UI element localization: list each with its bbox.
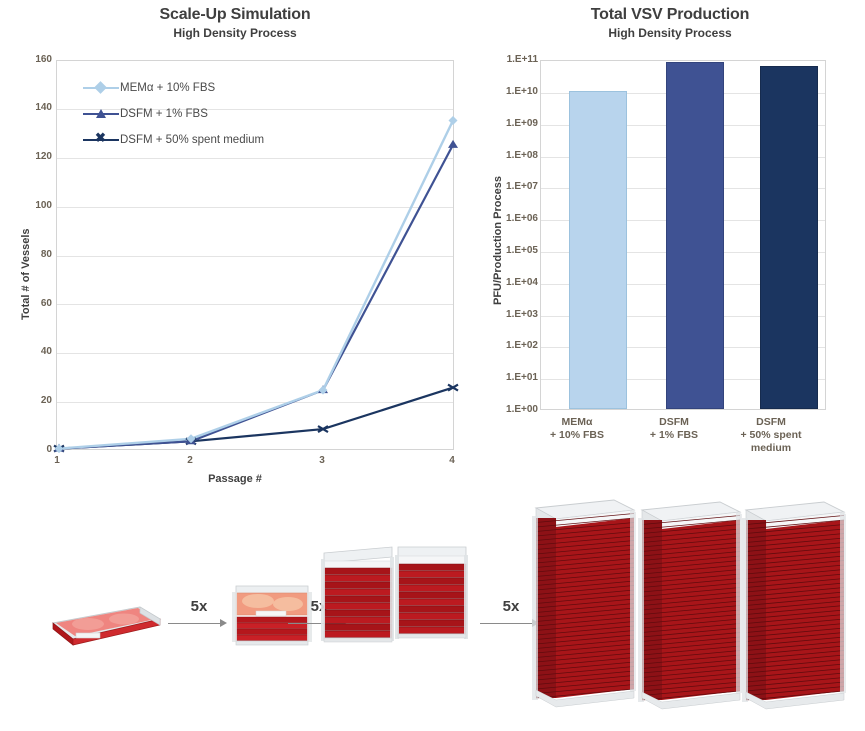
legend-item-dsfm-1fbs: DSFM + 1% FBS (83, 108, 208, 120)
left-y-tick-20: 20 (26, 395, 52, 406)
right-y-tick-1e06: 1.E+06 (500, 213, 538, 224)
scale-arrow-1: 5x (168, 598, 230, 632)
left-chart-subtitle: High Density Process (0, 27, 470, 41)
forty-layer-triple-stack-icon (530, 492, 850, 714)
series-line-dsfm-1fbs (59, 145, 453, 449)
left-chart-title: Scale-Up Simulation (0, 6, 470, 24)
left-y-tick-60: 60 (26, 298, 52, 309)
right-y-tick-1e00: 1.E+00 (500, 404, 538, 415)
vessel-stage-1-single-tray (48, 595, 163, 650)
left-x-tick-2: 2 (181, 455, 199, 466)
bar-category-label-mema: MEMα + 10% FBS (538, 416, 616, 442)
right-y-tick-1e02: 1.E+02 (500, 340, 538, 351)
vessel-stage-3-ten-layer-double (320, 535, 470, 650)
right-y-tick-1e11: 1.E+11 (500, 54, 538, 65)
bar-dsfm-1fbs (666, 62, 724, 409)
left-y-tick-120: 120 (26, 151, 52, 162)
arrow-head-icon (220, 619, 227, 627)
legend-label-dsfm-1fbs: DSFM + 1% FBS (120, 108, 208, 120)
right-chart-plot-area (540, 60, 826, 410)
right-chart-title: Total VSV Production (495, 6, 845, 24)
series-markers-mema-10fbs (55, 116, 458, 453)
bar-category-mema-line2: + 10% FBS (538, 429, 616, 442)
bar-mema-10fbs (569, 91, 627, 409)
scale-up-simulation-chart: Scale-Up Simulation High Density Process… (0, 0, 470, 480)
legend-label-mema: MEMα + 10% FBS (120, 82, 215, 94)
bar-dsfm-spent (760, 66, 818, 409)
ten-layer-double-stack-icon (320, 535, 470, 650)
right-y-tick-1e10: 1.E+10 (500, 86, 538, 97)
legend-marker-triangle-icon (83, 108, 119, 120)
left-x-tick-1: 1 (48, 455, 66, 466)
right-y-tick-1e04: 1.E+04 (500, 277, 538, 288)
left-x-tick-4: 4 (443, 455, 461, 466)
scale-arrow-1-label: 5x (168, 598, 230, 615)
right-y-tick-1e05: 1.E+05 (500, 245, 538, 256)
bar-category-dsfmsp-line3: medium (728, 442, 814, 455)
legend-item-dsfm-spent: ✖ DSFM + 50% spent medium (83, 134, 264, 146)
legend-item-mema: MEMα + 10% FBS (83, 82, 215, 94)
right-y-tick-1e08: 1.E+08 (500, 150, 538, 161)
right-y-tick-1e01: 1.E+01 (500, 372, 538, 383)
left-y-tick-160: 160 (26, 54, 52, 65)
left-y-tick-80: 80 (26, 249, 52, 260)
right-y-tick-1e07: 1.E+07 (500, 181, 538, 192)
left-y-tick-140: 140 (26, 102, 52, 113)
left-y-tick-100: 100 (26, 200, 52, 211)
bar-category-dsfmsp-line2: + 50% spent (728, 429, 814, 442)
right-y-tick-1e09: 1.E+09 (500, 118, 538, 129)
left-y-tick-40: 40 (26, 346, 52, 357)
series-line-dsfm-spent (59, 388, 453, 449)
right-chart-subtitle: High Density Process (495, 27, 845, 41)
legend-marker-x-icon: ✖ (83, 134, 119, 146)
single-tray-vessel-icon (48, 595, 163, 650)
legend-label-dsfm-spent: DSFM + 50% spent medium (120, 134, 264, 146)
bar-category-dsfmsp-line1: DSFM (728, 416, 814, 429)
scale-up-vessel-diagram: 5x 5x (0, 480, 865, 731)
series-markers-dsfm-spent (54, 385, 458, 452)
bar-category-mema-line1: MEMα (538, 416, 616, 429)
left-y-tick-0: 0 (26, 444, 52, 455)
bar-category-label-dsfm-1fbs: DSFM + 1% FBS (635, 416, 713, 442)
left-chart-plot-area: MEMα + 10% FBS DSFM + 1% FBS ✖ DSFM + 50… (56, 60, 454, 450)
right-y-tick-1e03: 1.E+03 (500, 309, 538, 320)
bar-category-dsfm1-line2: + 1% FBS (635, 429, 713, 442)
total-vsv-production-chart: Total VSV Production High Density Proces… (470, 0, 865, 480)
bar-category-dsfm1-line1: DSFM (635, 416, 713, 429)
legend-marker-diamond-icon (83, 82, 119, 94)
vessel-stage-4-forty-layer-triple (530, 492, 850, 714)
series-line-mema-10fbs (59, 121, 453, 449)
bar-category-label-dsfm-spent: DSFM + 50% spent medium (728, 416, 814, 455)
left-x-tick-3: 3 (313, 455, 331, 466)
